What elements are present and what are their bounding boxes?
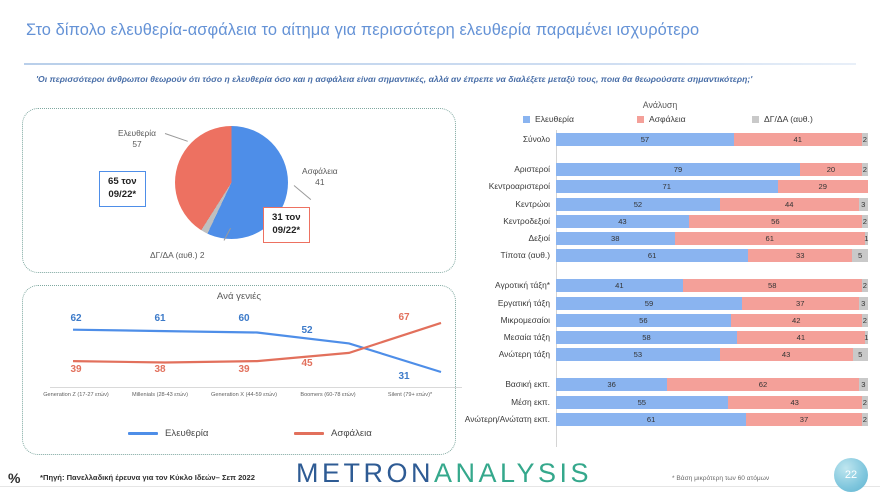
bar-segment-value: 3 (861, 380, 865, 389)
bar-row-label: Αγροτική τάξη* (430, 279, 550, 292)
bar-segment-value: 5 (858, 350, 862, 359)
bar-row-track: 59373 (556, 297, 868, 310)
line-chart-baseline (50, 387, 462, 388)
bar-segment-freedom: 56 (556, 314, 731, 327)
line-xcat-0: Generation Z (17-27 ετών) (37, 392, 115, 400)
bar-segment-value: 61 (647, 415, 655, 424)
bar-segment-security: 56 (689, 215, 862, 228)
bar-segment-value: 43 (618, 217, 626, 226)
bar-row: Δεξιοί38611 (430, 232, 880, 245)
bar-segment-security: 20 (800, 163, 862, 176)
bar-segment-value: 79 (674, 165, 682, 174)
line-label-security-3: 45 (290, 358, 324, 369)
bar-segment-value: 42 (792, 316, 800, 325)
bar-row: Εργατική τάξη59373 (430, 297, 880, 310)
pie-label-security-name: Ασφάλεια (302, 166, 338, 176)
bar-segment-freedom: 38 (556, 232, 675, 245)
bar-segment-value: 2 (863, 398, 867, 407)
bar-segment-dontknow: 3 (859, 378, 868, 391)
line-label-security-0: 39 (59, 364, 93, 375)
bar-segment-dontknow: 2 (862, 413, 868, 426)
line-legend-security-swatch (294, 432, 324, 435)
line-label-security-4: 67 (387, 312, 421, 323)
page-title: Στο δίπολο ελευθερία-ασφάλεια το αίτημα … (26, 21, 856, 40)
bar-row: Ανώτερη/Ανώτατη εκπ.61372 (430, 413, 880, 426)
bar-row: Ανώτερη τάξη53435 (430, 348, 880, 361)
pie-label-dontknow: ΔΓ/ΔΑ (αυθ.) 2 (150, 250, 205, 261)
bar-segment-security: 41 (737, 331, 865, 344)
bar-segment-value: 43 (782, 350, 790, 359)
bar-row: Κεντροδεξιοί43562 (430, 215, 880, 228)
bar-segment-value: 56 (639, 316, 647, 325)
pie-label-freedom-value: 57 (132, 139, 141, 149)
bar-row-label: Κεντρώοι (430, 198, 550, 211)
question-subtitle: 'Οι περισσότεροι άνθρωποι θεωρούν ότι τό… (36, 74, 848, 84)
bar-segment-value: 53 (634, 350, 642, 359)
bar-segment-value: 1 (864, 234, 868, 243)
bar-segment-value: 37 (796, 299, 804, 308)
title-divider (24, 63, 856, 65)
bar-segment-value: 52 (634, 200, 642, 209)
bar-segment-dontknow: 3 (859, 198, 868, 211)
bar-row-track: 79202 (556, 163, 868, 176)
line-label-freedom-1: 61 (143, 313, 177, 324)
bar-row: Αριστεροί79202 (430, 163, 880, 176)
bar-segment-value: 55 (638, 398, 646, 407)
bar-row-track: 58411 (556, 331, 868, 344)
bar-segment-value: 41 (797, 333, 805, 342)
bar-row-label: Τίποτα (αυθ.) (430, 249, 550, 262)
bar-segment-value: 36 (607, 380, 615, 389)
bar-segment-value: 56 (771, 217, 779, 226)
bar-row-track: 38611 (556, 232, 868, 245)
line-label-freedom-4: 31 (387, 371, 421, 382)
bar-segment-value: 43 (790, 398, 798, 407)
callout-security-previous: 31 τον 09/22* (263, 207, 310, 243)
bar-row: Κεντρώοι52443 (430, 198, 880, 211)
bar-segment-value: 29 (819, 182, 827, 191)
line-label-freedom-3: 52 (290, 325, 324, 336)
pie-label-freedom: Ελευθερία 57 (118, 128, 156, 149)
bar-row: Μικρομεσαίοι56422 (430, 314, 880, 327)
bar-row: Μεσαία τάξη58411 (430, 331, 880, 344)
brand-logo: METRONANALYSIS (296, 458, 592, 489)
bar-row-label: Δεξιοί (430, 232, 550, 245)
bar-row-label: Εργατική τάξη (430, 297, 550, 310)
percent-symbol: % (8, 470, 20, 486)
bar-segment-freedom: 43 (556, 215, 689, 228)
bar-segment-value: 3 (861, 299, 865, 308)
bar-segment-security: 44 (720, 198, 859, 211)
line-xcat-2: Generation X (44-59 ετών) (205, 392, 283, 400)
bar-segment-dontknow: 3 (859, 297, 868, 310)
bar-chart-title: Ανάλυση (560, 100, 760, 110)
bar-segment-value: 61 (648, 251, 656, 260)
bar-row: Μέση εκπ.55432 (430, 396, 880, 409)
line-label-freedom-0: 62 (59, 313, 93, 324)
bar-row-track: 41582 (556, 279, 868, 292)
bar-segment-security: 42 (731, 314, 862, 327)
bar-segment-freedom: 79 (556, 163, 800, 176)
bar-segment-security: 41 (734, 133, 862, 146)
bar-segment-value: 3 (861, 200, 865, 209)
bar-segment-security: 62 (667, 378, 859, 391)
bar-row-label: Κεντροαριστεροί (430, 180, 550, 193)
bar-row-track: 7129 (556, 180, 868, 193)
bar-row-label: Αριστεροί (430, 163, 550, 176)
bar-segment-dontknow: 2 (862, 314, 868, 327)
bar-segment-security: 33 (748, 249, 852, 262)
bar-segment-dontknow: 2 (862, 396, 868, 409)
bar-segment-value: 2 (863, 316, 867, 325)
line-legend-security: Ασφάλεια (294, 428, 372, 439)
bar-segment-security: 43 (720, 348, 853, 361)
bar-segment-value: 62 (759, 380, 767, 389)
bar-row-label: Κεντροδεξιοί (430, 215, 550, 228)
bar-segment-dontknow: 1 (865, 232, 868, 245)
line-legend-security-label: Ασφάλεια (331, 428, 372, 439)
bar-row-track: 36623 (556, 378, 868, 391)
bar-row-label: Μέση εκπ. (430, 396, 550, 409)
bar-row-track: 52443 (556, 198, 868, 211)
bar-row-track: 55432 (556, 396, 868, 409)
bar-segment-freedom: 41 (556, 279, 683, 292)
bar-segment-freedom: 52 (556, 198, 720, 211)
bar-row-track: 53435 (556, 348, 868, 361)
bar-segment-freedom: 71 (556, 180, 778, 193)
bar-row: Αγροτική τάξη*41582 (430, 279, 880, 292)
bar-segment-freedom: 61 (556, 249, 748, 262)
bar-row: Βασική εκπ.36623 (430, 378, 880, 391)
line-legend-freedom-swatch (128, 432, 158, 435)
bar-segment-security: 29 (778, 180, 868, 193)
pie-label-security: Ασφάλεια 41 (302, 166, 338, 187)
page-number-badge: 22 (834, 458, 868, 492)
bar-segment-value: 38 (611, 234, 619, 243)
bar-row-label: Μικρομεσαίοι (430, 314, 550, 327)
bar-row-label: Σύνολο (430, 133, 550, 146)
bar-segment-value: 20 (827, 165, 835, 174)
pie-label-security-value: 41 (315, 177, 324, 187)
bar-segment-dontknow: 2 (862, 133, 868, 146)
line-legend-freedom-label: Ελευθερία (165, 428, 208, 439)
line-label-freedom-2: 60 (227, 313, 261, 324)
bar-segment-freedom: 53 (556, 348, 720, 361)
brand-analysis: ANALYSIS (434, 458, 592, 488)
bar-segment-security: 37 (746, 413, 861, 426)
bar-segment-value: 2 (863, 217, 867, 226)
line-xcat-3: Boomers (60-78 ετών) (289, 392, 367, 400)
bar-row-label: Βασική εκπ. (430, 378, 550, 391)
bar-segment-dontknow: 2 (862, 215, 868, 228)
bar-segment-value: 59 (645, 299, 653, 308)
bar-segment-freedom: 59 (556, 297, 742, 310)
bar-segment-dontknow: 5 (852, 249, 868, 262)
bar-legend-dontknow-label: ΔΓ/ΔΑ (αυθ.) (764, 114, 813, 124)
base-size-note: * Βάση μικρότερη των 60 ατόμων (672, 475, 769, 482)
bar-segment-dontknow: 2 (862, 163, 868, 176)
bar-segment-freedom: 57 (556, 133, 734, 146)
bar-segment-value: 41 (615, 281, 623, 290)
line-chart-title: Ανά γενιές (22, 291, 456, 302)
bar-segment-security: 58 (683, 279, 862, 292)
bar-segment-value: 33 (796, 251, 804, 260)
bar-segment-value: 61 (765, 234, 773, 243)
pie-label-freedom-name: Ελευθερία (118, 128, 156, 138)
bar-segment-freedom: 55 (556, 396, 728, 409)
bar-segment-value: 57 (641, 135, 649, 144)
bar-segment-freedom: 58 (556, 331, 737, 344)
bar-segment-security: 43 (728, 396, 862, 409)
bar-legend-security-label: Ασφάλεια (649, 114, 686, 124)
line-label-security-1: 38 (143, 364, 177, 375)
bar-segment-value: 2 (863, 135, 867, 144)
bar-segment-value: 2 (863, 281, 867, 290)
bar-row-track: 61372 (556, 413, 868, 426)
bar-row: Σύνολο57412 (430, 133, 880, 146)
bar-segment-value: 41 (794, 135, 802, 144)
bar-legend-freedom-label: Ελευθερία (535, 114, 574, 124)
bar-row-track: 57412 (556, 133, 868, 146)
bar-segment-value: 58 (642, 333, 650, 342)
bar-segment-freedom: 61 (556, 413, 746, 426)
bar-segment-value: 71 (663, 182, 671, 191)
bar-segment-security: 37 (742, 297, 859, 310)
bar-segment-value: 2 (863, 415, 867, 424)
bar-legend-freedom-swatch (523, 116, 530, 123)
bar-legend-dontknow-swatch (752, 116, 759, 123)
line-series-security (73, 323, 441, 363)
bar-segment-value: 37 (800, 415, 808, 424)
bar-legend-security-swatch (637, 116, 644, 123)
bar-row-track: 43562 (556, 215, 868, 228)
bar-segment-dontknow: 1 (865, 331, 868, 344)
line-label-security-2: 39 (227, 364, 261, 375)
bar-segment-dontknow: 2 (862, 279, 868, 292)
line-legend-freedom: Ελευθερία (128, 428, 208, 439)
bar-segment-dontknow: 5 (853, 348, 868, 361)
bar-row-label: Μεσαία τάξη (430, 331, 550, 344)
bar-segment-freedom: 36 (556, 378, 667, 391)
line-xcat-1: Millenials (28-43 ετών) (121, 392, 199, 400)
bar-row-label: Ανώτερη/Ανώτατη εκπ. (430, 413, 550, 426)
bar-row-track: 61335 (556, 249, 868, 262)
bar-row: Κεντροαριστεροί7129 (430, 180, 880, 193)
bar-segment-value: 44 (785, 200, 793, 209)
bar-legend-dontknow: ΔΓ/ΔΑ (αυθ.) (752, 114, 813, 124)
source-note: *Πηγή: Πανελλαδική έρευνα για τον Κύκλο … (40, 473, 255, 482)
bar-segment-value: 2 (863, 165, 867, 174)
bar-segment-value: 5 (858, 251, 862, 260)
bar-segment-security: 61 (675, 232, 865, 245)
bar-row-track: 56422 (556, 314, 868, 327)
brand-metron: METRON (296, 458, 434, 488)
bar-row: Τίποτα (αυθ.)61335 (430, 249, 880, 262)
bar-legend-freedom: Ελευθερία (523, 114, 574, 124)
callout-freedom-previous: 65 τον 09/22* (99, 171, 146, 207)
bar-row-label: Ανώτερη τάξη (430, 348, 550, 361)
bar-segment-value: 1 (864, 333, 868, 342)
bar-segment-value: 58 (768, 281, 776, 290)
bar-legend-security: Ασφάλεια (637, 114, 686, 124)
